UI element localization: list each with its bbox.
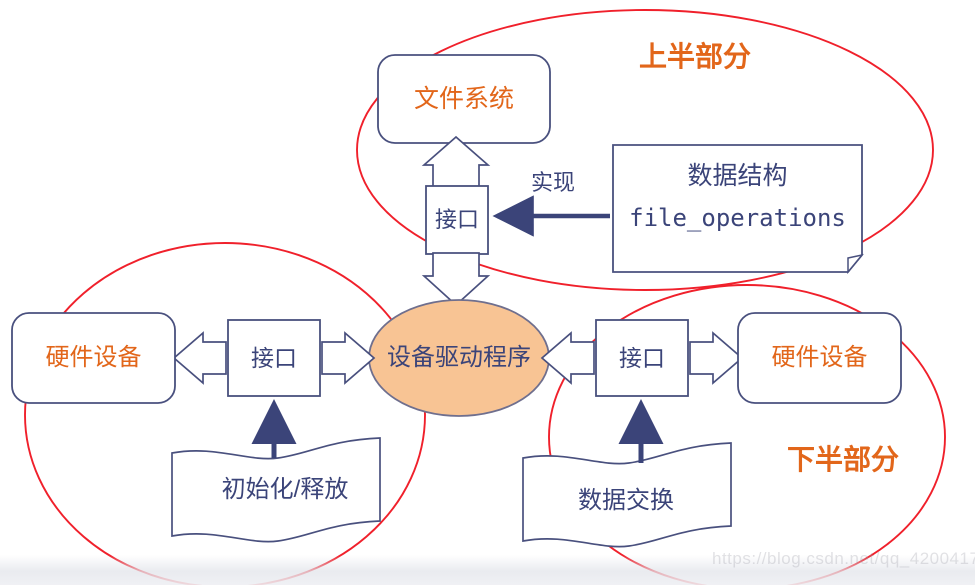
arrow-interfaceleft-hardwareleft: [174, 333, 226, 383]
node-file-system[interactable]: [378, 55, 550, 143]
arrow-interfaceright-hardwareright: [690, 333, 742, 383]
node-hardware-left[interactable]: [12, 313, 175, 403]
diagram-vector-layer: [0, 0, 975, 585]
node-banner-data-exchange[interactable]: [523, 443, 731, 547]
node-interface-right[interactable]: [596, 320, 688, 396]
node-interface-top[interactable]: [426, 186, 488, 254]
node-device-driver[interactable]: [369, 300, 549, 416]
node-interface-left[interactable]: [228, 320, 320, 396]
node-hardware-right[interactable]: [738, 313, 901, 403]
arrow-filesystem-interface-up: [424, 137, 488, 188]
diagram-canvas: 文件系统 接口 数据结构 file_operations 实现 设备驱动程序 接…: [0, 0, 975, 585]
arrow-interfaceright-driver: [542, 333, 594, 383]
node-data-structure[interactable]: [613, 145, 862, 272]
arrow-interface-driver-down: [424, 253, 488, 305]
arrow-interfaceleft-driver: [322, 333, 374, 383]
